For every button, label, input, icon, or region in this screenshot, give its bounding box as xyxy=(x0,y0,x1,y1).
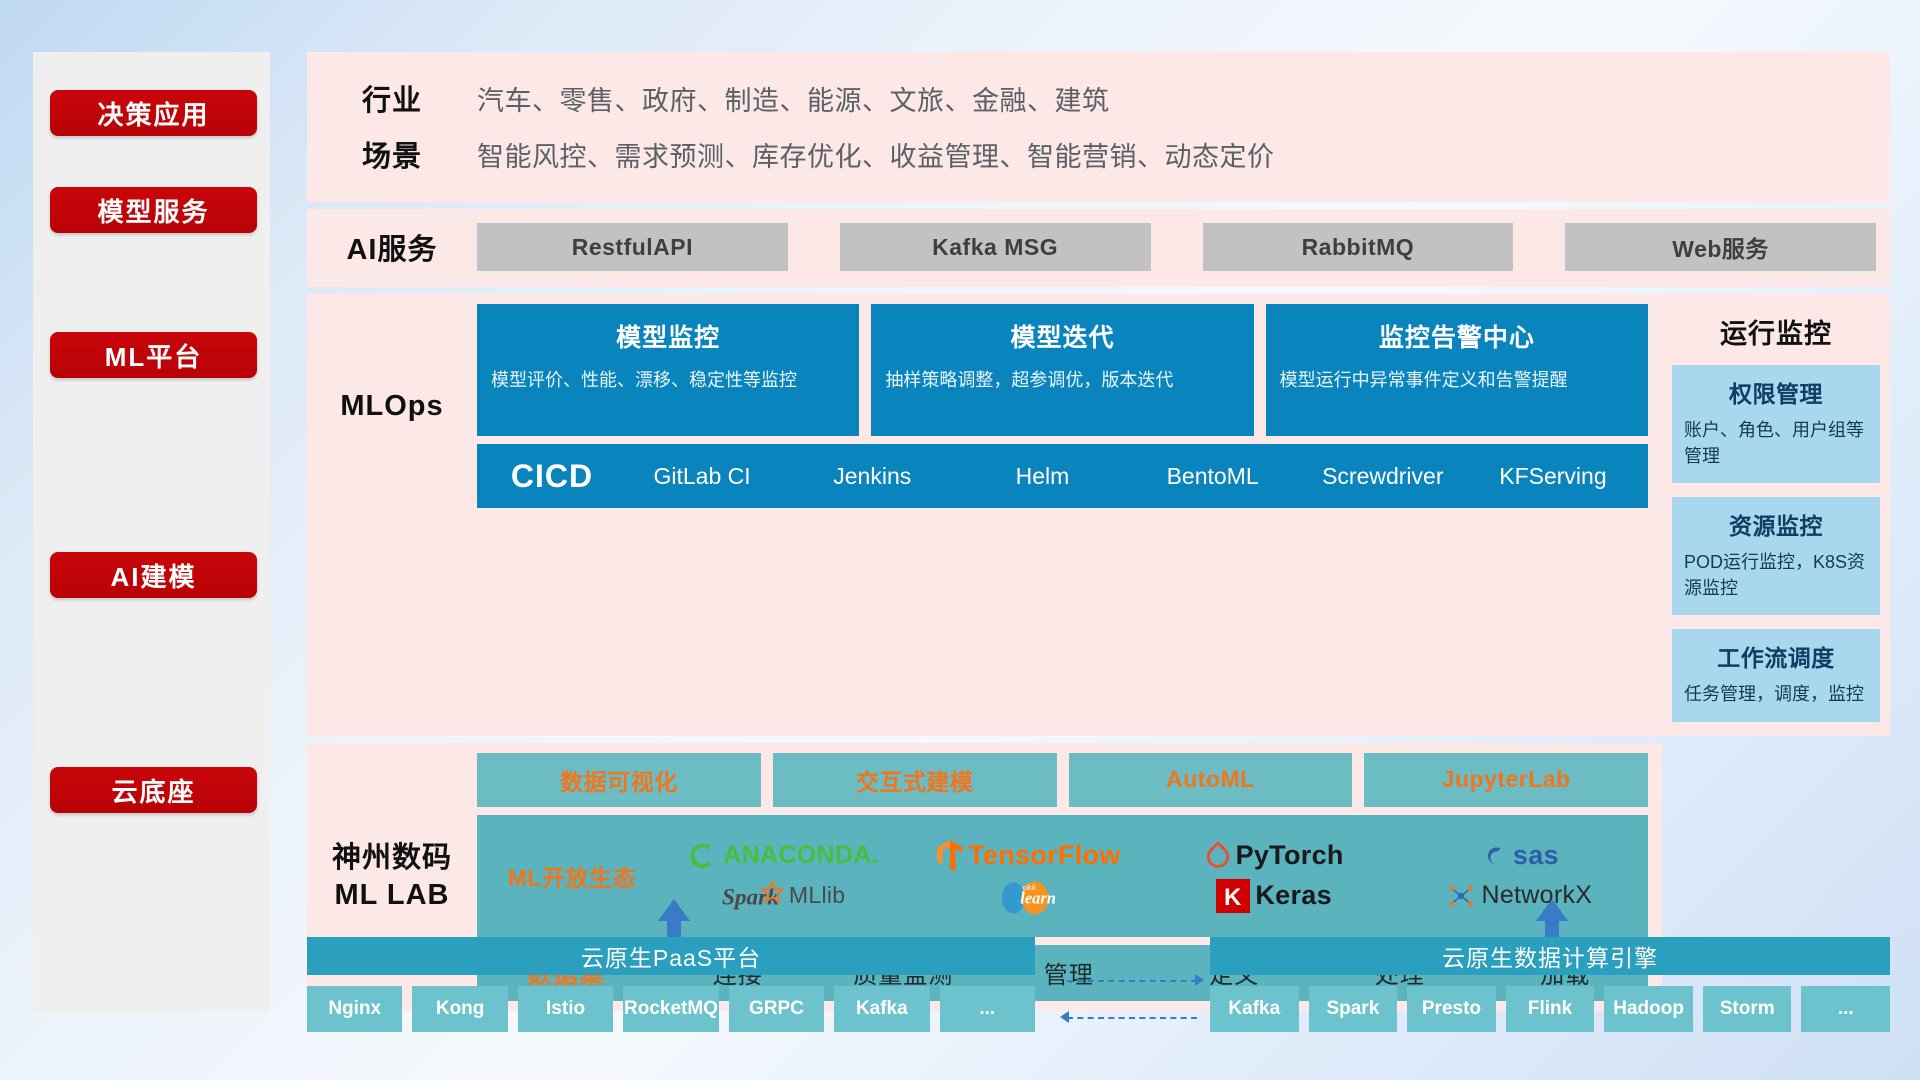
tab-jupyterlab[interactable]: JupyterLab xyxy=(1364,753,1648,807)
industry-scenario-band: 行业 汽车、零售、政府、制造、能源、文旅、金融、建筑 场景 智能风控、需求预测、… xyxy=(307,52,1890,202)
engine-chip-flink[interactable]: Flink xyxy=(1506,986,1595,1032)
svg-text:cikit: cikit xyxy=(1022,883,1036,892)
pytorch-mark-icon xyxy=(1205,841,1231,871)
card-title: 模型监控 xyxy=(491,318,845,354)
rail-item-label: 决策应用 xyxy=(97,95,209,132)
rail-item-label: 模型服务 xyxy=(97,192,209,229)
rail-item-label: AI建模 xyxy=(110,557,196,594)
paas-title-bar: 云原生PaaS平台 xyxy=(307,937,1035,975)
card-desc: 账户、角色、用户组等管理 xyxy=(1684,418,1868,469)
ai-service-chip-list: RestfulAPI Kafka MSG RabbitMQ Web服务 xyxy=(477,223,1890,271)
engine-chip-storm[interactable]: Storm xyxy=(1703,986,1792,1032)
rail-item-decision-app[interactable]: 决策应用 xyxy=(50,90,257,136)
rail-item-model-service[interactable]: 模型服务 xyxy=(50,187,257,233)
pytorch-logo: PyTorch xyxy=(1205,840,1344,871)
diagram-canvas: 决策应用 模型服务 ML平台 AI建模 云底座 行业 汽车、零售、政府、制造、能… xyxy=(0,0,1920,1080)
sas-mark-icon xyxy=(1480,842,1508,870)
cicd-item-kfserving[interactable]: KFServing xyxy=(1468,463,1638,489)
paas-chip-grpc[interactable]: GRPC xyxy=(729,986,824,1032)
modeling-tab-list: 数据可视化 交互式建模 AutoML JupyterLab xyxy=(477,753,1648,807)
runtime-monitor-column: 运行监控 权限管理 账户、角色、用户组等管理 资源监控 POD运行监控，K8S资… xyxy=(1662,294,1890,736)
ml-platform-band: MLOps 模型监控 模型评价、性能、漂移、稳定性等监控 模型迭代 抽样策略调整… xyxy=(307,294,1890,736)
anaconda-mark-icon xyxy=(688,841,718,871)
tensorflow-mark-icon xyxy=(937,840,963,872)
ai-service-chip-web-service[interactable]: Web服务 xyxy=(1565,223,1876,271)
mlops-section: MLOps 模型监控 模型评价、性能、漂移、稳定性等监控 模型迭代 抽样策略调整… xyxy=(307,294,1662,518)
sas-logo: sas xyxy=(1480,840,1559,871)
connector-line-left xyxy=(1067,1017,1197,1019)
connector-arrow-right-icon xyxy=(1195,974,1204,986)
mlops-card-list: 模型监控 模型评价、性能、漂移、稳定性等监控 模型迭代 抽样策略调整，超参调优，… xyxy=(477,304,1648,436)
engine-arrow-up-icon xyxy=(1536,899,1568,921)
monitor-card-resource[interactable]: 资源监控 POD运行监控，K8S资源监控 xyxy=(1672,497,1880,615)
cicd-item-jenkins[interactable]: Jenkins xyxy=(787,463,957,489)
card-title: 工作流调度 xyxy=(1684,639,1868,673)
monitor-card-permission[interactable]: 权限管理 账户、角色、用户组等管理 xyxy=(1672,365,1880,483)
ai-service-label: AI服务 xyxy=(307,226,477,268)
cicd-item-helm[interactable]: Helm xyxy=(957,463,1127,489)
ml-ecosystem-label: ML开放生态 xyxy=(483,859,661,893)
tab-interactive-modeling[interactable]: 交互式建模 xyxy=(773,753,1057,807)
engine-arrow-stem xyxy=(1545,919,1559,939)
runtime-monitor-title: 运行监控 xyxy=(1662,294,1890,365)
card-title: 资源监控 xyxy=(1684,507,1868,541)
paas-arrow-up-icon xyxy=(658,899,690,921)
connector-line-right xyxy=(1067,980,1197,982)
compute-engine-chip-list: Kafka Spark Presto Flink Hadoop Storm ..… xyxy=(1210,986,1890,1032)
scenario-value: 智能风控、需求预测、库存优化、收益管理、智能营销、动态定价 xyxy=(477,135,1275,174)
cicd-item-bentoml[interactable]: BentoML xyxy=(1128,463,1298,489)
engine-chip-spark[interactable]: Spark xyxy=(1309,986,1398,1032)
mlops-card-model-monitoring[interactable]: 模型监控 模型评价、性能、漂移、稳定性等监控 xyxy=(477,304,859,436)
industry-label: 行业 xyxy=(307,77,477,119)
cicd-bar: CICD GitLab CI Jenkins Helm BentoML Scre… xyxy=(477,444,1648,508)
cicd-item-gitlab-ci[interactable]: GitLab CI xyxy=(617,463,787,489)
mlops-card-model-iteration[interactable]: 模型迭代 抽样策略调整，超参调优，版本迭代 xyxy=(871,304,1253,436)
paas-group: 云原生PaaS平台 Nginx Kong Istio RocketMQ GRPC… xyxy=(307,937,1035,1032)
sas-logo-text: sas xyxy=(1513,840,1559,871)
connector-arrow-left-icon xyxy=(1060,1011,1069,1023)
compute-engine-group: 云原生数据计算引擎 Kafka Spark Presto Flink Hadoo… xyxy=(1210,937,1890,1032)
ai-service-chip-kafka-msg[interactable]: Kafka MSG xyxy=(840,223,1151,271)
card-desc: 抽样策略调整，超参调优，版本迭代 xyxy=(885,368,1239,394)
rail-item-label: 云底座 xyxy=(111,772,195,809)
mlops-card-alert-center[interactable]: 监控告警中心 模型运行中异常事件定义和告警提醒 xyxy=(1266,304,1648,436)
rail-item-label: ML平台 xyxy=(105,337,203,374)
ml-ecosystem-logo-grid: ANACONDA. TensorFlow xyxy=(661,836,1642,916)
engine-chip-presto[interactable]: Presto xyxy=(1407,986,1496,1032)
cloud-base-section: 云原生PaaS平台 Nginx Kong Istio RocketMQ GRPC… xyxy=(307,905,1890,1055)
rail-item-ai-modeling[interactable]: AI建模 xyxy=(50,552,257,598)
card-title: 模型迭代 xyxy=(885,318,1239,354)
compute-engine-title-bar: 云原生数据计算引擎 xyxy=(1210,937,1890,975)
paas-chip-kafka[interactable]: Kafka xyxy=(834,986,929,1032)
card-desc: POD运行监控，K8S资源监控 xyxy=(1684,550,1868,601)
engine-chip-more[interactable]: ... xyxy=(1801,986,1890,1032)
paas-chip-rocketmq[interactable]: RocketMQ xyxy=(623,986,718,1032)
industry-row: 行业 汽车、零售、政府、制造、能源、文旅、金融、建筑 xyxy=(307,70,1890,126)
paas-chip-list: Nginx Kong Istio RocketMQ GRPC Kafka ... xyxy=(307,986,1035,1032)
paas-chip-kong[interactable]: Kong xyxy=(412,986,507,1032)
cicd-title: CICD xyxy=(487,458,617,495)
tensorflow-logo-text: TensorFlow xyxy=(968,840,1121,871)
engine-chip-hadoop[interactable]: Hadoop xyxy=(1604,986,1693,1032)
left-rail: 决策应用 模型服务 ML平台 AI建模 云底座 xyxy=(33,52,270,1012)
cicd-item-list: GitLab CI Jenkins Helm BentoML Screwdriv… xyxy=(617,463,1638,489)
paas-chip-more[interactable]: ... xyxy=(940,986,1035,1032)
paas-chip-nginx[interactable]: Nginx xyxy=(307,986,402,1032)
ai-service-chip-rabbitmq[interactable]: RabbitMQ xyxy=(1203,223,1514,271)
rail-item-ml-platform[interactable]: ML平台 xyxy=(50,332,257,378)
card-desc: 任务管理，调度，监控 xyxy=(1684,682,1868,708)
mlops-label: MLOps xyxy=(307,304,477,508)
paas-chip-istio[interactable]: Istio xyxy=(518,986,613,1032)
monitor-card-workflow[interactable]: 工作流调度 任务管理，调度，监控 xyxy=(1672,629,1880,722)
industry-value: 汽车、零售、政府、制造、能源、文旅、金融、建筑 xyxy=(477,79,1110,118)
tab-data-visualization[interactable]: 数据可视化 xyxy=(477,753,761,807)
anaconda-logo-text: ANACONDA. xyxy=(723,841,878,870)
cicd-item-screwdriver[interactable]: Screwdriver xyxy=(1298,463,1468,489)
card-desc: 模型评价、性能、漂移、稳定性等监控 xyxy=(491,368,845,394)
tensorflow-logo: TensorFlow xyxy=(937,840,1121,872)
ai-service-chip-restfulapi[interactable]: RestfulAPI xyxy=(477,223,788,271)
card-title: 监控告警中心 xyxy=(1280,318,1634,354)
card-desc: 模型运行中异常事件定义和告警提醒 xyxy=(1280,368,1634,394)
mlops-content: 模型监控 模型评价、性能、漂移、稳定性等监控 模型迭代 抽样策略调整，超参调优，… xyxy=(477,304,1662,508)
rail-item-cloud-base[interactable]: 云底座 xyxy=(50,767,257,813)
ml-lab-label-line1: 神州数码 xyxy=(332,842,452,874)
pytorch-logo-text: PyTorch xyxy=(1236,840,1344,871)
ai-service-band: AI服务 RestfulAPI Kafka MSG RabbitMQ Web服务 xyxy=(307,209,1890,287)
anaconda-logo: ANACONDA. xyxy=(688,841,878,871)
paas-arrow-stem xyxy=(667,919,681,939)
card-title: 权限管理 xyxy=(1684,375,1868,409)
tab-automl[interactable]: AutoML xyxy=(1069,753,1353,807)
scenario-row: 场景 智能风控、需求预测、库存优化、收益管理、智能营销、动态定价 xyxy=(307,126,1890,182)
main-column: 行业 汽车、零售、政府、制造、能源、文旅、金融、建筑 场景 智能风控、需求预测、… xyxy=(307,52,1890,1018)
scenario-label: 场景 xyxy=(307,133,477,175)
engine-chip-kafka[interactable]: Kafka xyxy=(1210,986,1299,1032)
